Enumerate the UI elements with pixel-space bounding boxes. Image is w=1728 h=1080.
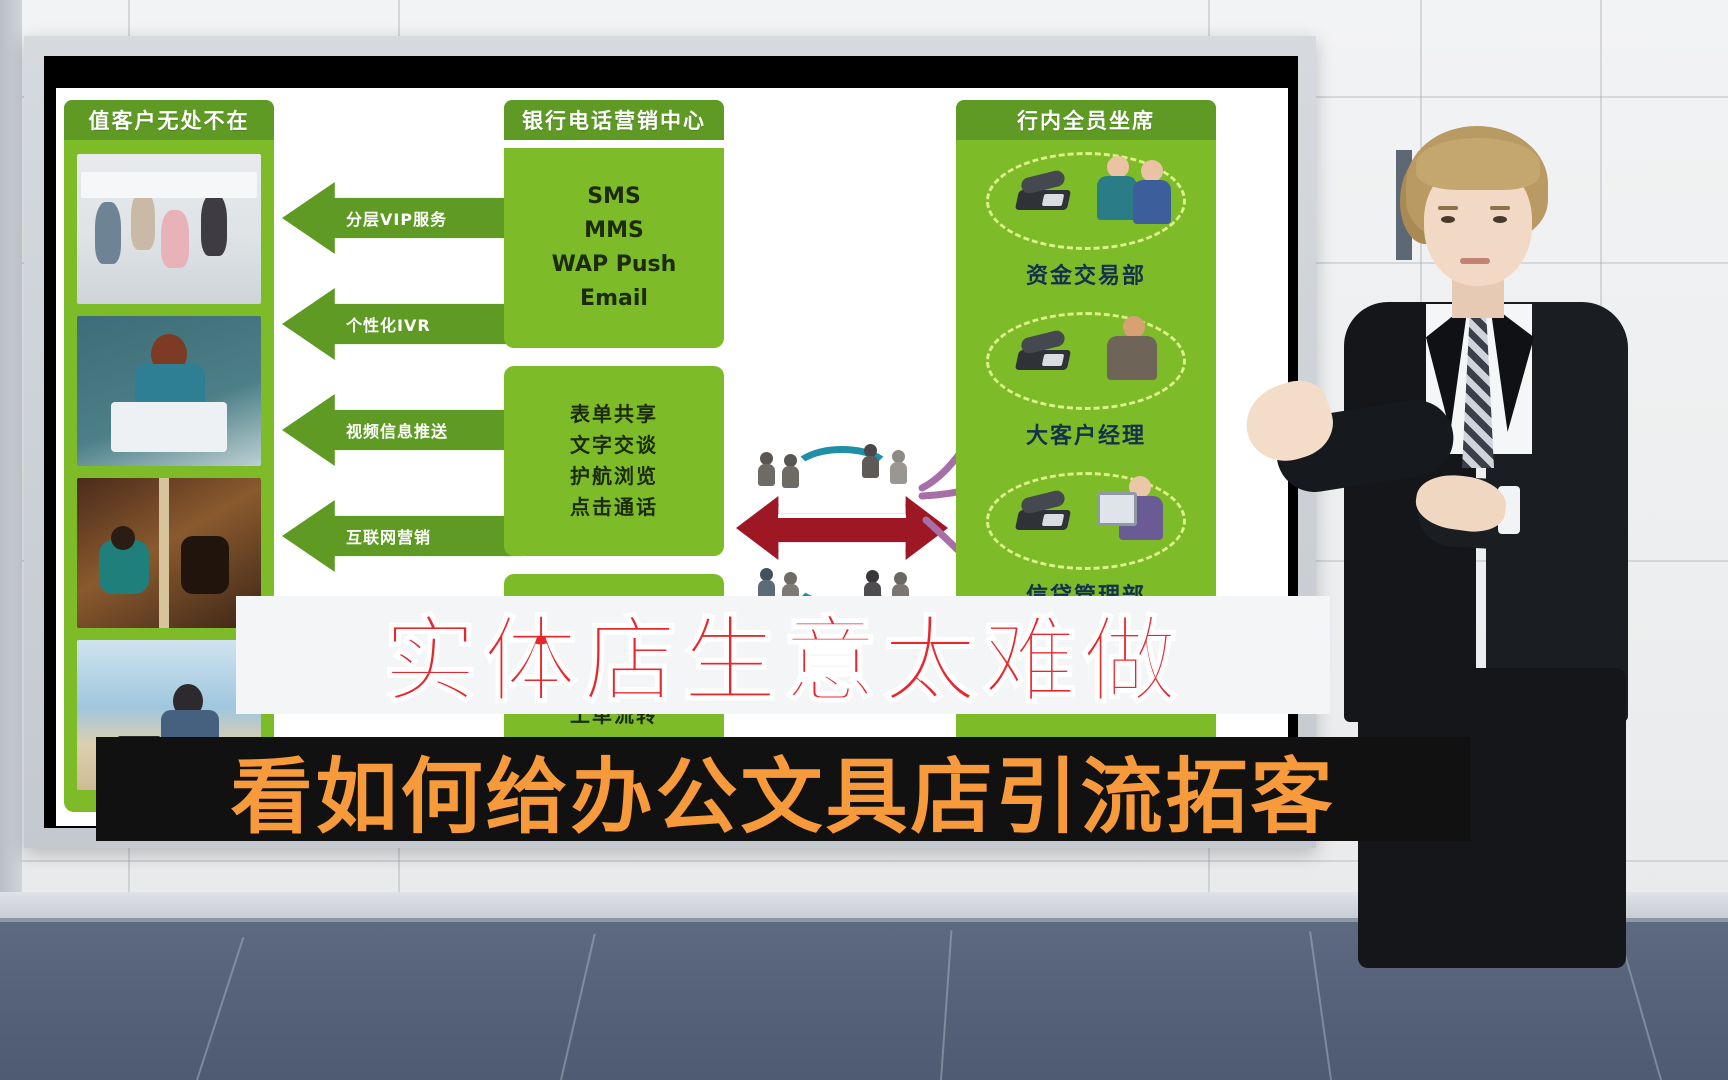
middle-box-channels: SMS MMS WAP Push Email — [504, 148, 724, 348]
agent-computer-icon — [1097, 474, 1173, 550]
manager-icon — [1097, 314, 1173, 390]
hair-fringe — [1416, 138, 1540, 190]
interaction-item: 文字交谈 — [570, 430, 658, 461]
eyebrow-right — [1490, 206, 1510, 210]
headline-caption: 实体店生意太难做 — [236, 592, 1330, 714]
interaction-item: 点击通话 — [570, 492, 658, 523]
desk-phone-icon — [1017, 170, 1069, 212]
mouth — [1460, 258, 1490, 264]
flow-arrow-label: 个性化IVR — [346, 312, 431, 336]
thumbnail-meeting-room — [77, 154, 261, 304]
eye-left — [1441, 216, 1455, 223]
subline-caption: 看如何给办公文具店引流拓客 — [96, 737, 1470, 841]
department-label: 大客户经理 — [956, 418, 1216, 450]
mini-people-group — [862, 444, 918, 484]
left-column-header: 值客户无处不在 — [64, 100, 274, 140]
desk-phone-icon — [1017, 490, 1069, 532]
department-block: 大客户经理 — [956, 308, 1216, 454]
flow-arrow-3: 视频信息推送 — [282, 394, 522, 466]
right-column-header: 行内全员坐席 — [956, 100, 1216, 140]
channel-item: SMS — [587, 180, 641, 214]
wall-pillar-left — [0, 0, 22, 930]
middle-box-interactions: 表单共享 文字交谈 护航浏览 点击通话 — [504, 366, 724, 556]
flow-arrow-1: 分层VIP服务 — [282, 182, 522, 254]
eye-right — [1493, 216, 1507, 223]
eyebrow-left — [1438, 206, 1458, 210]
channel-item: WAP Push — [552, 248, 677, 282]
department-label: 资金交易部 — [956, 258, 1216, 290]
middle-column-header: 银行电话营销中心 — [504, 100, 724, 140]
interaction-item: 表单共享 — [570, 399, 658, 430]
flow-arrow-label: 分层VIP服务 — [346, 206, 447, 230]
channel-item: MMS — [584, 214, 644, 248]
staff-pair-icon — [1097, 154, 1173, 230]
mini-people-group — [756, 452, 812, 492]
desk-phone-icon — [1017, 330, 1069, 372]
channel-item: Email — [580, 282, 648, 316]
thumbnail-woman-laptop — [77, 316, 261, 466]
flow-arrow-label: 视频信息推送 — [346, 418, 448, 442]
flow-arrow-4: 互联网营销 — [282, 500, 522, 572]
thumbnail-restaurant — [77, 478, 261, 628]
flow-arrow-label: 互联网营销 — [346, 524, 431, 548]
interaction-item: 护航浏览 — [570, 461, 658, 492]
two-way-arrow-highlight — [778, 514, 906, 518]
flow-arrow-2: 个性化IVR — [282, 288, 522, 360]
department-block: 资金交易部 — [956, 148, 1216, 294]
